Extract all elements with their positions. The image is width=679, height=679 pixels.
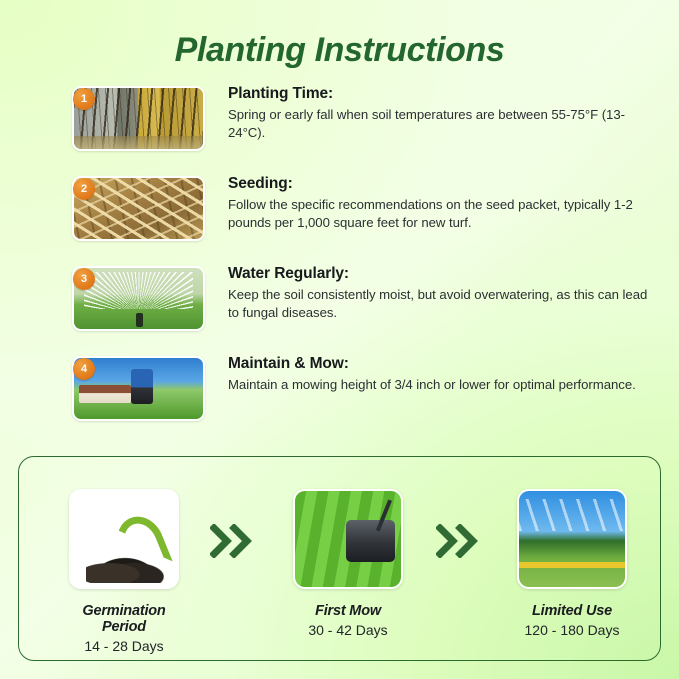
lawn-mower-on-grass-photo <box>293 489 403 589</box>
timeline-days: 30 - 42 Days <box>292 622 404 638</box>
step-text: Maintain & Mow: Maintain a mowing height… <box>228 355 661 394</box>
sprouting-seed-art <box>71 491 177 587</box>
step-item: 3 Water Regularly: Keep the soil consist… <box>0 266 679 356</box>
step-thumbnail-wrap: 1 <box>72 86 205 151</box>
step-title: Water Regularly: <box>228 265 661 283</box>
sprouting-seed-photo <box>69 489 179 589</box>
timeline-label: First Mow <box>292 603 404 619</box>
step-item: 2 Seeding: Follow the specific recommend… <box>0 176 679 266</box>
lawn-mower-on-grass-art <box>295 491 401 587</box>
timeline-item: First Mow 30 - 42 Days <box>292 489 404 638</box>
timeline-label: Germination Period <box>68 603 180 635</box>
step-number-badge: 3 <box>73 268 95 290</box>
double-chevron-right-icon <box>436 524 482 558</box>
step-thumbnail-wrap: 3 <box>72 266 205 331</box>
step-title: Planting Time: <box>228 85 661 103</box>
sports-field-photo <box>517 489 627 589</box>
step-title: Seeding: <box>228 175 661 193</box>
double-chevron-right-icon <box>210 524 256 558</box>
step-thumbnail-wrap: 4 <box>72 356 205 421</box>
step-body: Keep the soil consistently moist, but av… <box>228 286 661 322</box>
step-number-badge: 4 <box>73 358 95 380</box>
infographic-root: Planting Instructions 1 Planting Time: S… <box>0 0 679 679</box>
page-title: Planting Instructions <box>0 31 679 70</box>
step-body: Maintain a mowing height of 3/4 inch or … <box>228 376 661 394</box>
timeline-item: Germination Period 14 - 28 Days <box>68 489 180 654</box>
step-number-badge: 1 <box>73 88 95 110</box>
step-title: Maintain & Mow: <box>228 355 661 373</box>
timeline-days: 14 - 28 Days <box>68 638 180 654</box>
timeline-item: Limited Use 120 - 180 Days <box>516 489 628 638</box>
step-text: Water Regularly: Keep the soil consisten… <box>228 265 661 322</box>
step-item: 1 Planting Time: Spring or early fall wh… <box>0 86 679 176</box>
timeline-label: Limited Use <box>516 603 628 619</box>
sports-field-art <box>519 491 625 587</box>
step-text: Planting Time: Spring or early fall when… <box>228 85 661 142</box>
step-body: Follow the specific recommendations on t… <box>228 196 661 232</box>
step-thumbnail-wrap: 2 <box>72 176 205 241</box>
step-text: Seeding: Follow the specific recommendat… <box>228 175 661 232</box>
step-body: Spring or early fall when soil temperatu… <box>228 106 661 142</box>
timeline-days: 120 - 180 Days <box>516 622 628 638</box>
steps-list: 1 Planting Time: Spring or early fall wh… <box>0 86 679 446</box>
step-number-badge: 2 <box>73 178 95 200</box>
step-item: 4 Maintain & Mow: Maintain a mowing heig… <box>0 356 679 446</box>
